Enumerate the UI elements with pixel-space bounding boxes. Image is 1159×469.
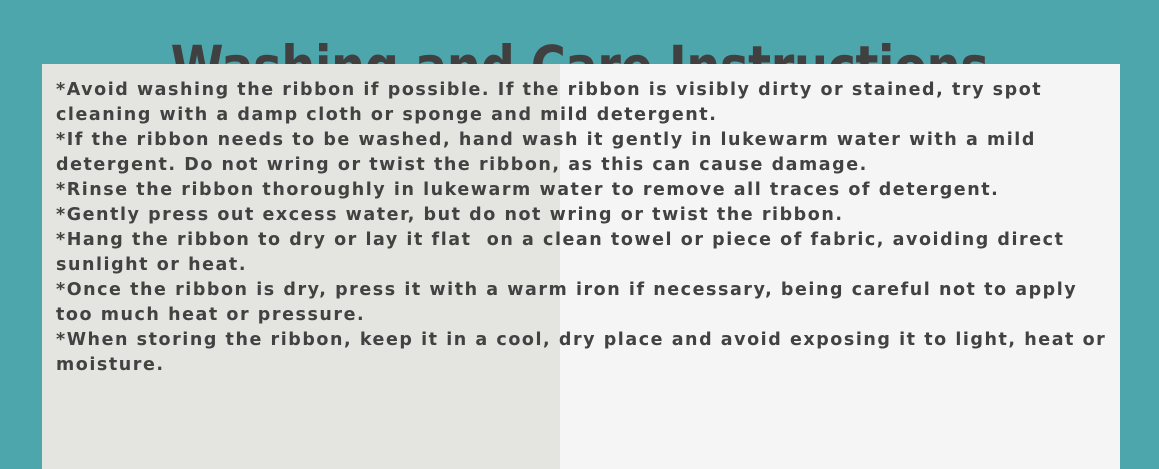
instructions-text: *Avoid washing the ribbon if possible. I… [56, 78, 1116, 378]
instruction-poster: Washing and Care Instructions *Avoid was… [0, 0, 1159, 469]
instructions-panel: *Avoid washing the ribbon if possible. I… [42, 64, 1120, 469]
